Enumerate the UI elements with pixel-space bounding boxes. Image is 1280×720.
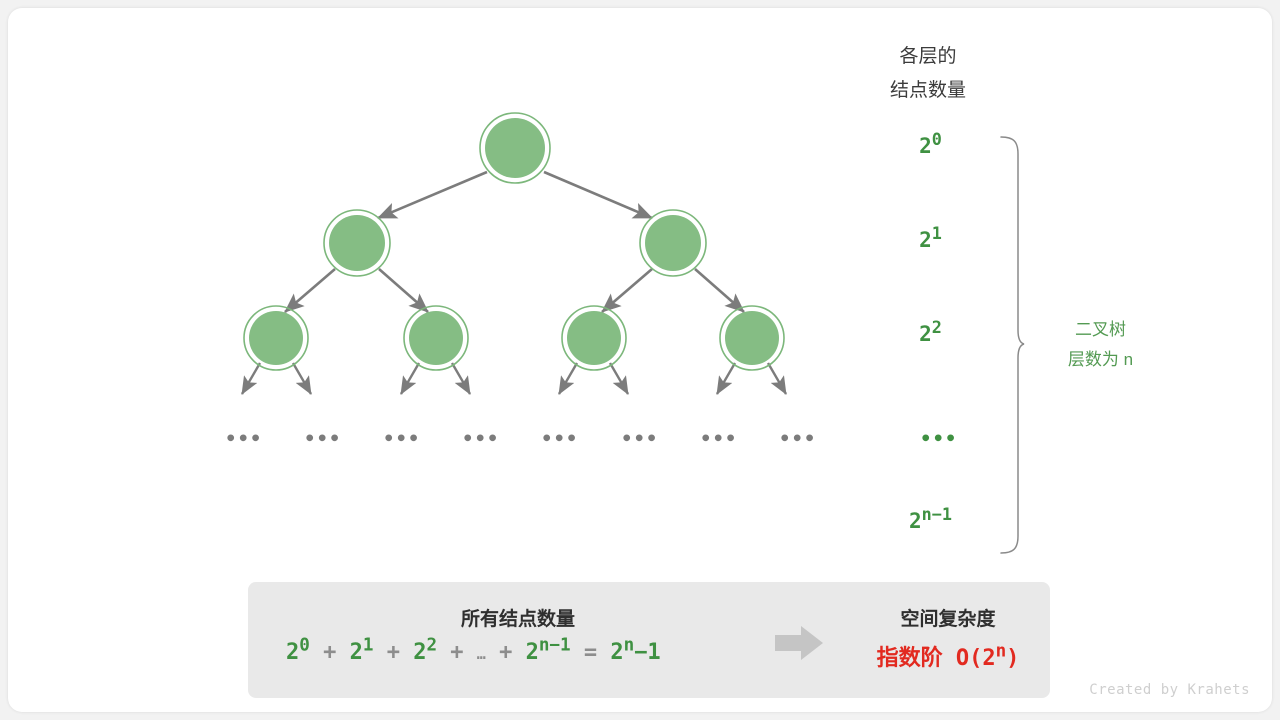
formula-result-exp: n bbox=[624, 636, 635, 656]
leaf-ellipsis-3: ••• bbox=[462, 428, 499, 450]
formula-result-suffix: −1 bbox=[634, 640, 661, 665]
complexity-close: ) bbox=[1006, 646, 1019, 671]
formula-ellipsis: … bbox=[477, 645, 486, 663]
tree-node-l2-0 bbox=[324, 210, 390, 276]
level-count-0-exp: 0 bbox=[932, 129, 942, 149]
complexity-exp: n bbox=[996, 642, 1007, 662]
level-count-last-exp: n−1 bbox=[922, 504, 952, 524]
tree-depth-label-line2: 层数为 n bbox=[1033, 345, 1168, 375]
level-count-last: 2n−1 bbox=[878, 509, 983, 533]
formula-plus-3: + bbox=[499, 640, 512, 665]
formula-last-term-base: 2 bbox=[526, 640, 539, 665]
tree-nodes bbox=[244, 113, 784, 370]
level-count-ellipsis: ••• bbox=[920, 428, 957, 450]
summary-left-title: 所有结点数量 bbox=[298, 604, 738, 631]
leaf-ellipsis-6: ••• bbox=[700, 428, 737, 450]
formula-term-0-base: 2 bbox=[286, 640, 299, 665]
level-count-1-base: 2 bbox=[919, 228, 932, 252]
summary-right-title: 空间复杂度 bbox=[848, 604, 1048, 631]
level-count-1: 21 bbox=[878, 228, 983, 252]
complexity-notation: O(2n) bbox=[956, 646, 1020, 671]
level-count-2: 22 bbox=[878, 322, 983, 346]
tree-node-l3-3 bbox=[720, 306, 784, 370]
formula-plus-2: + bbox=[450, 640, 463, 665]
formula-term-0-exp: 0 bbox=[299, 636, 310, 656]
complexity-open: O(2 bbox=[956, 646, 996, 671]
formula-term-1-exp: 1 bbox=[363, 636, 374, 656]
formula-term-2-base: 2 bbox=[413, 640, 426, 665]
level-count-brace bbox=[1001, 137, 1024, 553]
formula-equals: = bbox=[584, 640, 597, 665]
tree-node-l3-2 bbox=[562, 306, 626, 370]
leaf-ellipsis-2: ••• bbox=[383, 428, 420, 450]
leaf-ellipsis-7: ••• bbox=[779, 428, 816, 450]
formula-term-0: 20 bbox=[286, 640, 310, 665]
tree-node-root bbox=[480, 113, 550, 183]
formula-term-1: 21 bbox=[350, 640, 374, 665]
level-count-last-base: 2 bbox=[909, 509, 922, 533]
formula-term-1-base: 2 bbox=[350, 640, 363, 665]
tree-edges-level3 bbox=[242, 363, 786, 394]
diagram-card: 各层的 结点数量 bbox=[8, 8, 1272, 712]
formula-last-term: 2n−1 bbox=[526, 640, 571, 665]
space-complexity-value: 指数阶 O(2n) bbox=[848, 640, 1048, 672]
level-count-2-exp: 2 bbox=[932, 317, 942, 337]
right-arrow-icon bbox=[773, 622, 833, 664]
level-count-2-base: 2 bbox=[919, 322, 932, 346]
summary-formula: 20 + 21 + 22 + … + 2n−1 = 2n−1 bbox=[286, 640, 661, 665]
tree-node-l3-1 bbox=[404, 306, 468, 370]
complexity-prefix: 指数阶 bbox=[877, 645, 943, 670]
formula-last-term-exp: n−1 bbox=[539, 636, 571, 656]
formula-plus-0: + bbox=[323, 640, 336, 665]
summary-box: 所有结点数量 20 + 21 + 22 + … + 2n−1 = 2n−1 空间… bbox=[248, 582, 1050, 698]
level-count-0: 20 bbox=[878, 134, 983, 158]
leaf-ellipsis-5: ••• bbox=[621, 428, 658, 450]
tree-depth-label-line1: 二叉树 bbox=[1033, 315, 1168, 345]
leaf-ellipsis-0: ••• bbox=[225, 428, 262, 450]
level-count-0-base: 2 bbox=[919, 134, 932, 158]
leaf-ellipsis-4: ••• bbox=[541, 428, 578, 450]
formula-result: 2n−1 bbox=[610, 640, 660, 665]
leaf-ellipsis-1: ••• bbox=[304, 428, 341, 450]
tree-node-l2-1 bbox=[640, 210, 706, 276]
formula-result-base: 2 bbox=[610, 640, 623, 665]
formula-plus-1: + bbox=[387, 640, 400, 665]
formula-term-2: 22 bbox=[413, 640, 437, 665]
level-count-1-exp: 1 bbox=[932, 223, 942, 243]
tree-edges-level1 bbox=[378, 172, 652, 218]
formula-term-2-exp: 2 bbox=[426, 636, 437, 656]
watermark: Created by Krahets bbox=[1089, 682, 1250, 698]
tree-node-l3-0 bbox=[244, 306, 308, 370]
